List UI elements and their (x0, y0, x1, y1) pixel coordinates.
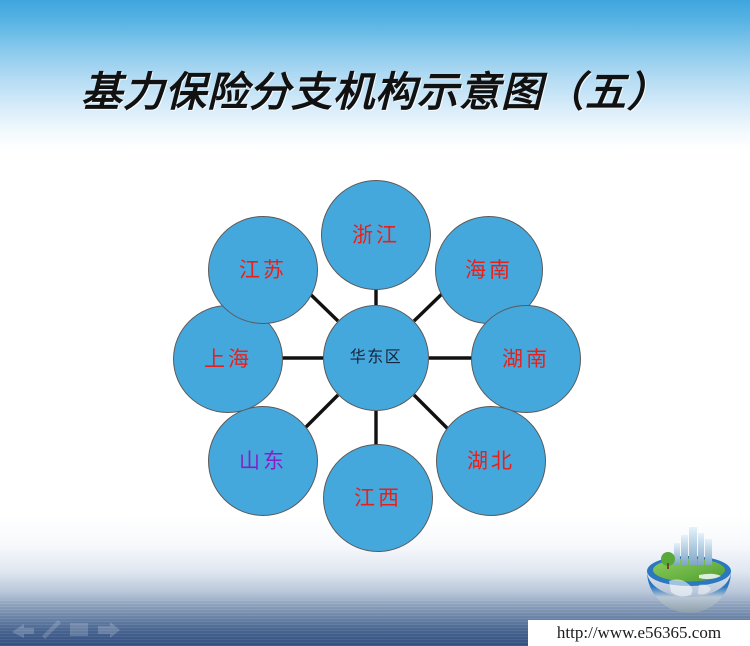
diagram-node-hunan[interactable]: 湖南 (471, 305, 581, 413)
diagram-node-hubei[interactable]: 湖北 (436, 406, 546, 516)
diagram-node-shandong-label: 山东 (239, 451, 287, 472)
water-arrow-marks-icon (8, 612, 128, 640)
edge-center-to-bottom-left (304, 395, 338, 429)
diagram-node-shanghai-label: 上海 (204, 349, 252, 370)
org-structure-diagram: 华东区 浙江 海南 湖南 湖北 江西 山东 上海 (180, 168, 600, 530)
diagram-node-center-label: 华东区 (350, 350, 403, 366)
diagram-node-zhejiang-label: 浙江 (352, 225, 400, 246)
globe-city-logo-icon (637, 519, 741, 615)
diagram-node-jiangsu-label: 江苏 (239, 260, 287, 281)
diagram-node-shandong[interactable]: 山东 (208, 406, 318, 516)
diagram-node-center[interactable]: 华东区 (323, 305, 429, 411)
diagram-node-jiangxi-label: 江西 (354, 488, 402, 509)
diagram-node-jiangxi[interactable]: 江西 (323, 444, 433, 552)
slide-canvas: 基力保险分支机构示意图（五） 华东区 浙江 海南 (0, 0, 750, 646)
diagram-node-jiangsu[interactable]: 江苏 (208, 216, 318, 324)
diagram-node-hubei-label: 湖北 (467, 451, 515, 472)
diagram-node-hainan-label: 海南 (465, 260, 513, 281)
diagram-node-hunan-label: 湖南 (502, 349, 550, 370)
edge-center-to-bottom-right (414, 395, 448, 429)
watermark-url[interactable]: http://www.e56365.com (557, 623, 721, 643)
page-title: 基力保险分支机构示意图（五） (0, 58, 750, 118)
diagram-node-zhejiang[interactable]: 浙江 (321, 180, 431, 290)
watermark-bar: http://www.e56365.com (528, 620, 750, 646)
